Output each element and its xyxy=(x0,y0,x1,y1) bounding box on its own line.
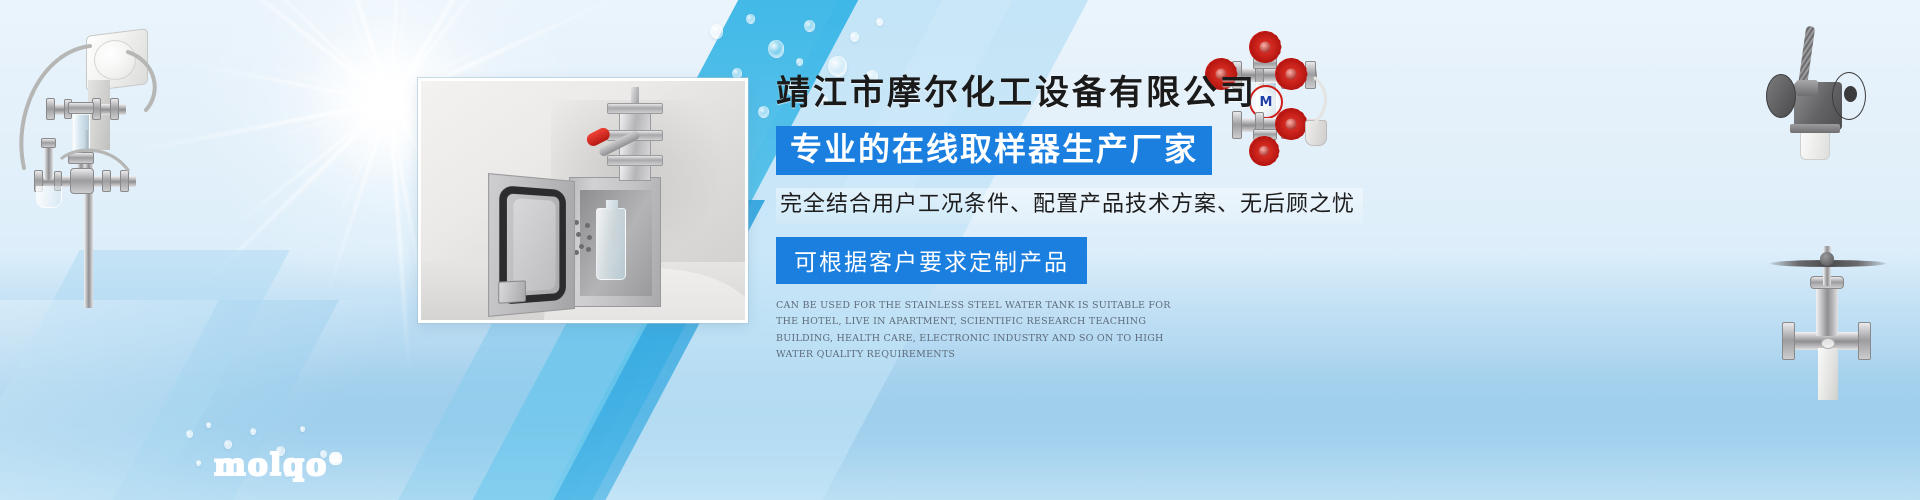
equipment-bottom-sampler xyxy=(1772,240,1892,400)
water-drop-icon xyxy=(804,20,815,32)
sun-ray-icon xyxy=(388,0,406,102)
vent-hole xyxy=(587,235,592,240)
sun-ray-icon xyxy=(324,102,391,303)
water-drop-icon xyxy=(768,40,784,58)
sub-headline: 完全结合用户工况条件、配置产品技术方案、无后顾之忧 xyxy=(776,188,1363,224)
vent-hole xyxy=(585,223,590,228)
water-drop-icon xyxy=(250,428,256,435)
water-drop-icon xyxy=(206,422,211,428)
headline-badge: 专业的在线取样器生产厂家 xyxy=(776,126,1212,176)
cabinet-open-door xyxy=(488,173,575,317)
water-drop-icon xyxy=(796,58,803,66)
sun-ray-icon xyxy=(388,102,411,372)
sun-ray-icon xyxy=(183,61,390,104)
water-drop-icon xyxy=(758,106,769,118)
sun-ray-icon xyxy=(224,101,390,234)
sun-ray-icon xyxy=(239,0,391,103)
registered-mark-icon: ® xyxy=(328,450,345,468)
sampler-cabinet xyxy=(569,177,661,307)
sun-ray-icon xyxy=(245,101,389,146)
water-drop-icon xyxy=(710,24,723,39)
brand-watermark: molqo® xyxy=(214,448,345,483)
water-drop-icon xyxy=(186,430,193,438)
sun-ray-icon xyxy=(245,58,389,103)
vent-hole xyxy=(579,244,584,249)
sun-ray-icon xyxy=(305,0,392,103)
water-drop-icon xyxy=(746,14,755,24)
tubing-icon xyxy=(6,18,176,308)
water-drop-icon xyxy=(850,32,859,42)
water-drop-icon xyxy=(300,426,305,432)
company-name: 靖江市摩尔化工设备有限公司 xyxy=(776,72,1406,115)
sun-ray-icon xyxy=(388,0,416,102)
sun-ray-icon xyxy=(328,102,390,240)
callout-badge: 可根据客户要求定制产品 xyxy=(776,237,1087,284)
sun-ray-icon xyxy=(178,0,391,104)
english-description: CAN BE USED FOR THE STAINLESS STEEL WATE… xyxy=(776,298,1186,363)
water-drop-icon xyxy=(196,460,201,466)
brand-watermark-text: molqo xyxy=(214,448,328,483)
sun-ray-icon xyxy=(196,101,392,293)
product-photo xyxy=(418,78,748,323)
sun-ray-icon xyxy=(328,0,390,102)
promo-banner: M xyxy=(0,0,1920,500)
banner-text-block: 靖江市摩尔化工设备有限公司 专业的在线取样器生产厂家 完全结合用户工况条件、配置… xyxy=(776,72,1406,363)
vent-hole xyxy=(576,232,581,237)
equipment-lever-valve xyxy=(1760,28,1900,188)
vent-hole xyxy=(586,247,591,252)
equipment-left-sampler xyxy=(6,18,176,308)
water-drop-icon xyxy=(876,18,883,26)
top-valve-assembly xyxy=(599,99,671,183)
